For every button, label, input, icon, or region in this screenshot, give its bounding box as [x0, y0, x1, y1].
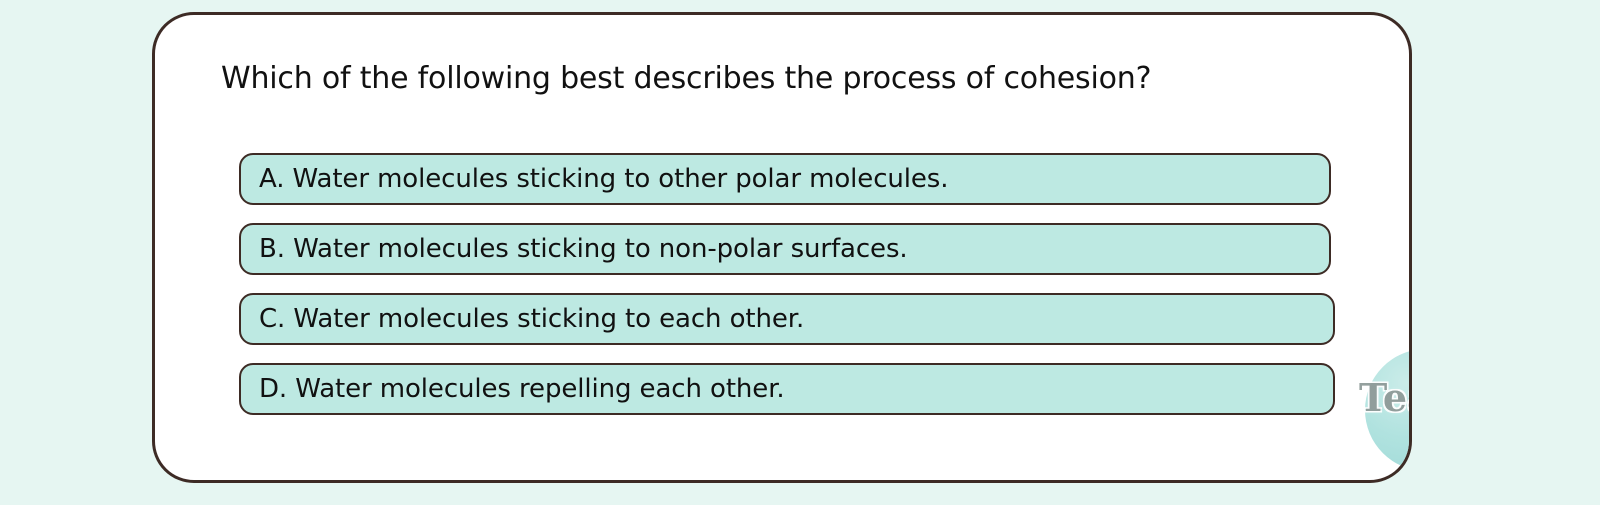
quiz-card: Which of the following best describes th…	[152, 12, 1412, 483]
answer-option-c[interactable]: C. Water molecules sticking to each othe…	[239, 293, 1335, 345]
option-row: A. Water molecules sticking to other pol…	[239, 153, 1334, 223]
answer-option-b-label: B. Water molecules sticking to non-polar…	[241, 234, 908, 264]
watermark: Teach Me	[1355, 343, 1412, 483]
answer-option-d-label: D. Water molecules repelling each other.	[241, 374, 785, 404]
answer-option-b[interactable]: B. Water molecules sticking to non-polar…	[239, 223, 1331, 275]
answer-option-a-label: A. Water molecules sticking to other pol…	[241, 164, 948, 194]
watermark-text: Teach Me	[1359, 379, 1412, 417]
answer-option-a[interactable]: A. Water molecules sticking to other pol…	[239, 153, 1331, 205]
question-text: Which of the following best describes th…	[221, 59, 1151, 99]
answer-option-d[interactable]: D. Water molecules repelling each other.	[239, 363, 1335, 415]
option-row: B. Water molecules sticking to non-polar…	[239, 223, 1334, 293]
answer-option-c-label: C. Water molecules sticking to each othe…	[241, 304, 804, 334]
option-row: D. Water molecules repelling each other.	[239, 363, 1334, 433]
bubble-icon	[1365, 349, 1412, 471]
option-row: C. Water molecules sticking to each othe…	[239, 293, 1334, 363]
options-list: A. Water molecules sticking to other pol…	[239, 153, 1334, 433]
